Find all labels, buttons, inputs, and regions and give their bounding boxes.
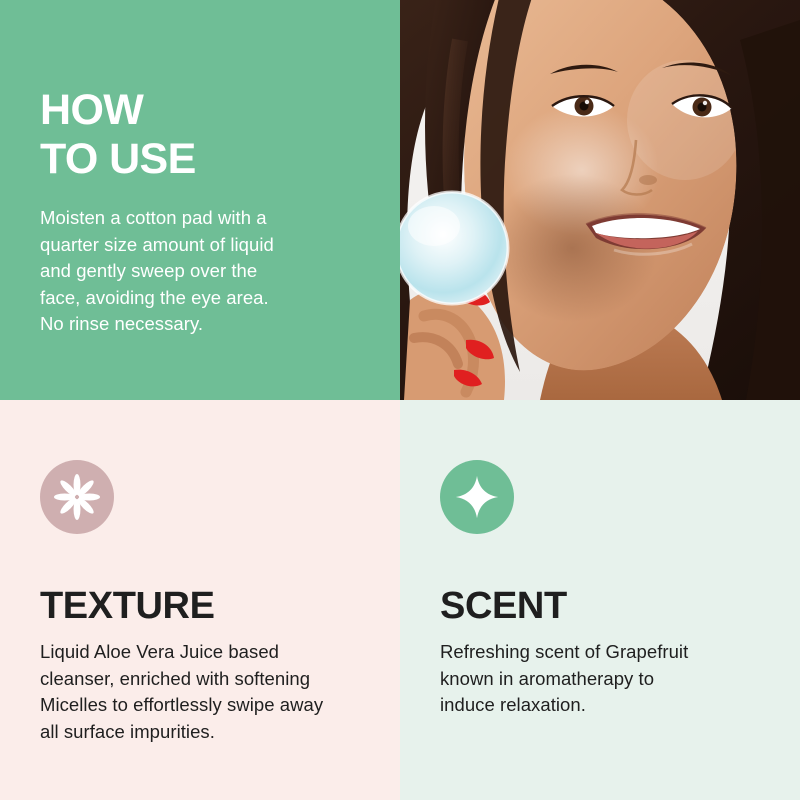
texture-title: TEXTURE — [40, 587, 366, 625]
scent-body: Refreshing scent of Grapefruit known in … — [440, 639, 766, 719]
panel-photo — [400, 0, 800, 400]
portrait-photo — [400, 0, 800, 400]
panel-texture: TEXTURE Liquid Aloe Vera Juice based cle… — [0, 400, 400, 800]
scent-title: SCENT — [440, 587, 766, 625]
texture-body: Liquid Aloe Vera Juice based cleanser, e… — [40, 639, 366, 745]
product-infographic: HOW TO USE Moisten a cotton pad with a q… — [0, 0, 800, 800]
how-to-use-body: Moisten a cotton pad with a quarter size… — [40, 205, 354, 338]
panel-how-to-use: HOW TO USE Moisten a cotton pad with a q… — [0, 0, 400, 400]
sparkle-icon — [440, 460, 514, 534]
flower-icon — [40, 460, 114, 534]
panel-scent: SCENT Refreshing scent of Grapefruit kno… — [400, 400, 800, 800]
how-to-use-title: HOW TO USE — [40, 86, 354, 183]
